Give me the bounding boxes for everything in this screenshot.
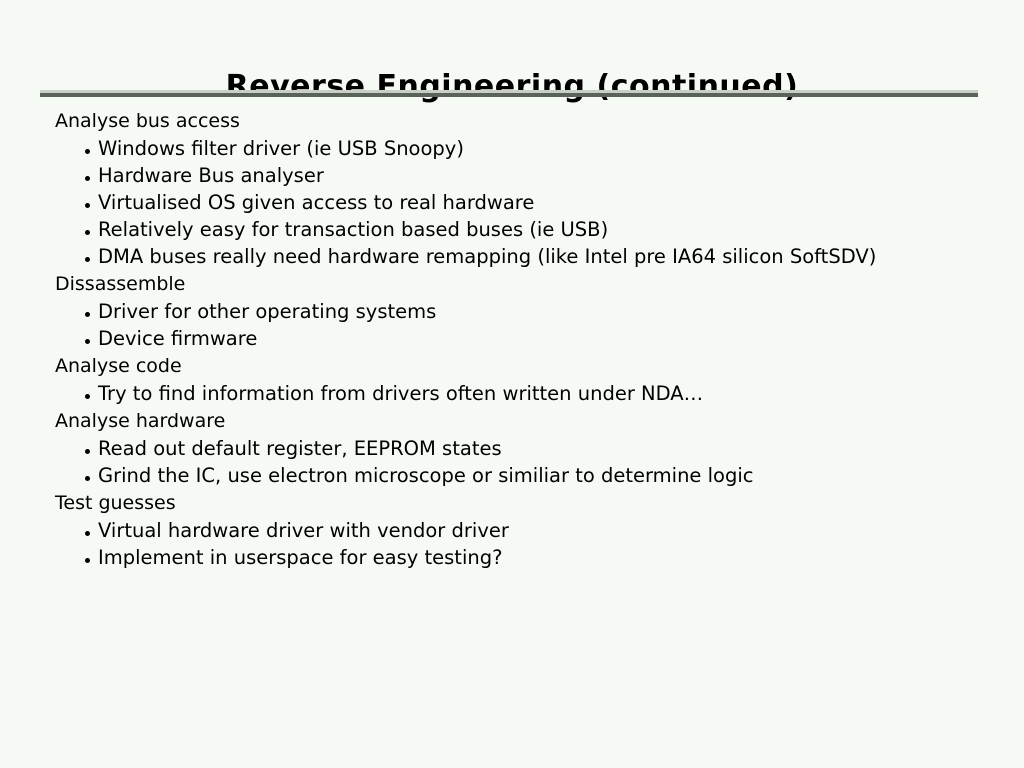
bullet-list-item: Grind the IC, use electron microscope or… [55, 462, 995, 489]
bullet-dot-shape [85, 339, 90, 344]
section-heading-label: Analyse bus access [55, 108, 240, 135]
bullet-dot-shape [85, 203, 90, 208]
section-heading: Dissassemble [55, 271, 995, 298]
bullet-dot-shape [85, 394, 90, 399]
bullet-dot-shape [85, 476, 90, 481]
bullet-dot-shape [85, 449, 90, 454]
bullet-item-label: Driver for other operating systems [98, 298, 436, 325]
divider-shadow-line [40, 93, 978, 97]
title-divider [40, 90, 978, 97]
bullet-list-item: Try to find information from drivers oft… [55, 380, 995, 407]
section-heading-label: Analyse hardware [55, 408, 225, 435]
section-heading: Analyse hardware [55, 408, 995, 435]
bullet-list-item: Read out default register, EEPROM states [55, 435, 995, 462]
presentation-slide: Reverse Engineering (continued) Analyse … [0, 0, 1024, 768]
bullet-item-label: Virtual hardware driver with vendor driv… [98, 517, 509, 544]
slide-body: Analyse bus accessWindows filter driver … [55, 107, 995, 571]
bullet-item-label: Relatively easy for transaction based bu… [98, 216, 608, 243]
bullet-dot-shape [85, 230, 90, 235]
bullet-item-label: Hardware Bus analyser [98, 162, 324, 189]
bullet-dot-shape [85, 257, 90, 262]
bullet-item-label: Try to find information from drivers oft… [98, 380, 703, 407]
bullet-item-label: Windows filter driver (ie USB Snoopy) [98, 135, 464, 162]
section-heading-label: Test guesses [55, 490, 176, 517]
bullet-list-item: DMA buses really need hardware remapping… [55, 243, 995, 270]
bullet-list-item: Hardware Bus analyser [55, 162, 995, 189]
bullet-item-label: Grind the IC, use electron microscope or… [98, 462, 754, 489]
section-heading: Test guesses [55, 490, 995, 517]
bullet-list-item: Virtual hardware driver with vendor driv… [55, 517, 995, 544]
bullet-item-label: Implement in userspace for easy testing? [98, 544, 502, 571]
bullet-list-item: Windows filter driver (ie USB Snoopy) [55, 135, 995, 162]
bullet-item-label: Read out default register, EEPROM states [98, 435, 502, 462]
bullet-list-item: Relatively easy for transaction based bu… [55, 216, 995, 243]
bullet-dot-shape [85, 149, 90, 154]
bullet-item-label: Virtualised OS given access to real hard… [98, 189, 534, 216]
section-heading: Analyse bus access [55, 108, 995, 135]
bullet-dot-shape [85, 558, 90, 563]
section-heading: Analyse code [55, 353, 995, 380]
bullet-list-item: Implement in userspace for easy testing? [55, 544, 995, 571]
bullet-item-label: DMA buses really need hardware remapping… [98, 243, 876, 270]
section-heading-label: Analyse code [55, 353, 182, 380]
bullet-list-item: Driver for other operating systems [55, 298, 995, 325]
bullet-item-label: Device firmware [98, 325, 257, 352]
bullet-dot-shape [85, 176, 90, 181]
bullet-list-item: Device firmware [55, 325, 995, 352]
slide-title: Reverse Engineering (continued) [0, 68, 1024, 106]
bullet-list-item: Virtualised OS given access to real hard… [55, 189, 995, 216]
bullet-dot-shape [85, 312, 90, 317]
bullet-dot-shape [85, 531, 90, 536]
section-heading-label: Dissassemble [55, 271, 185, 298]
